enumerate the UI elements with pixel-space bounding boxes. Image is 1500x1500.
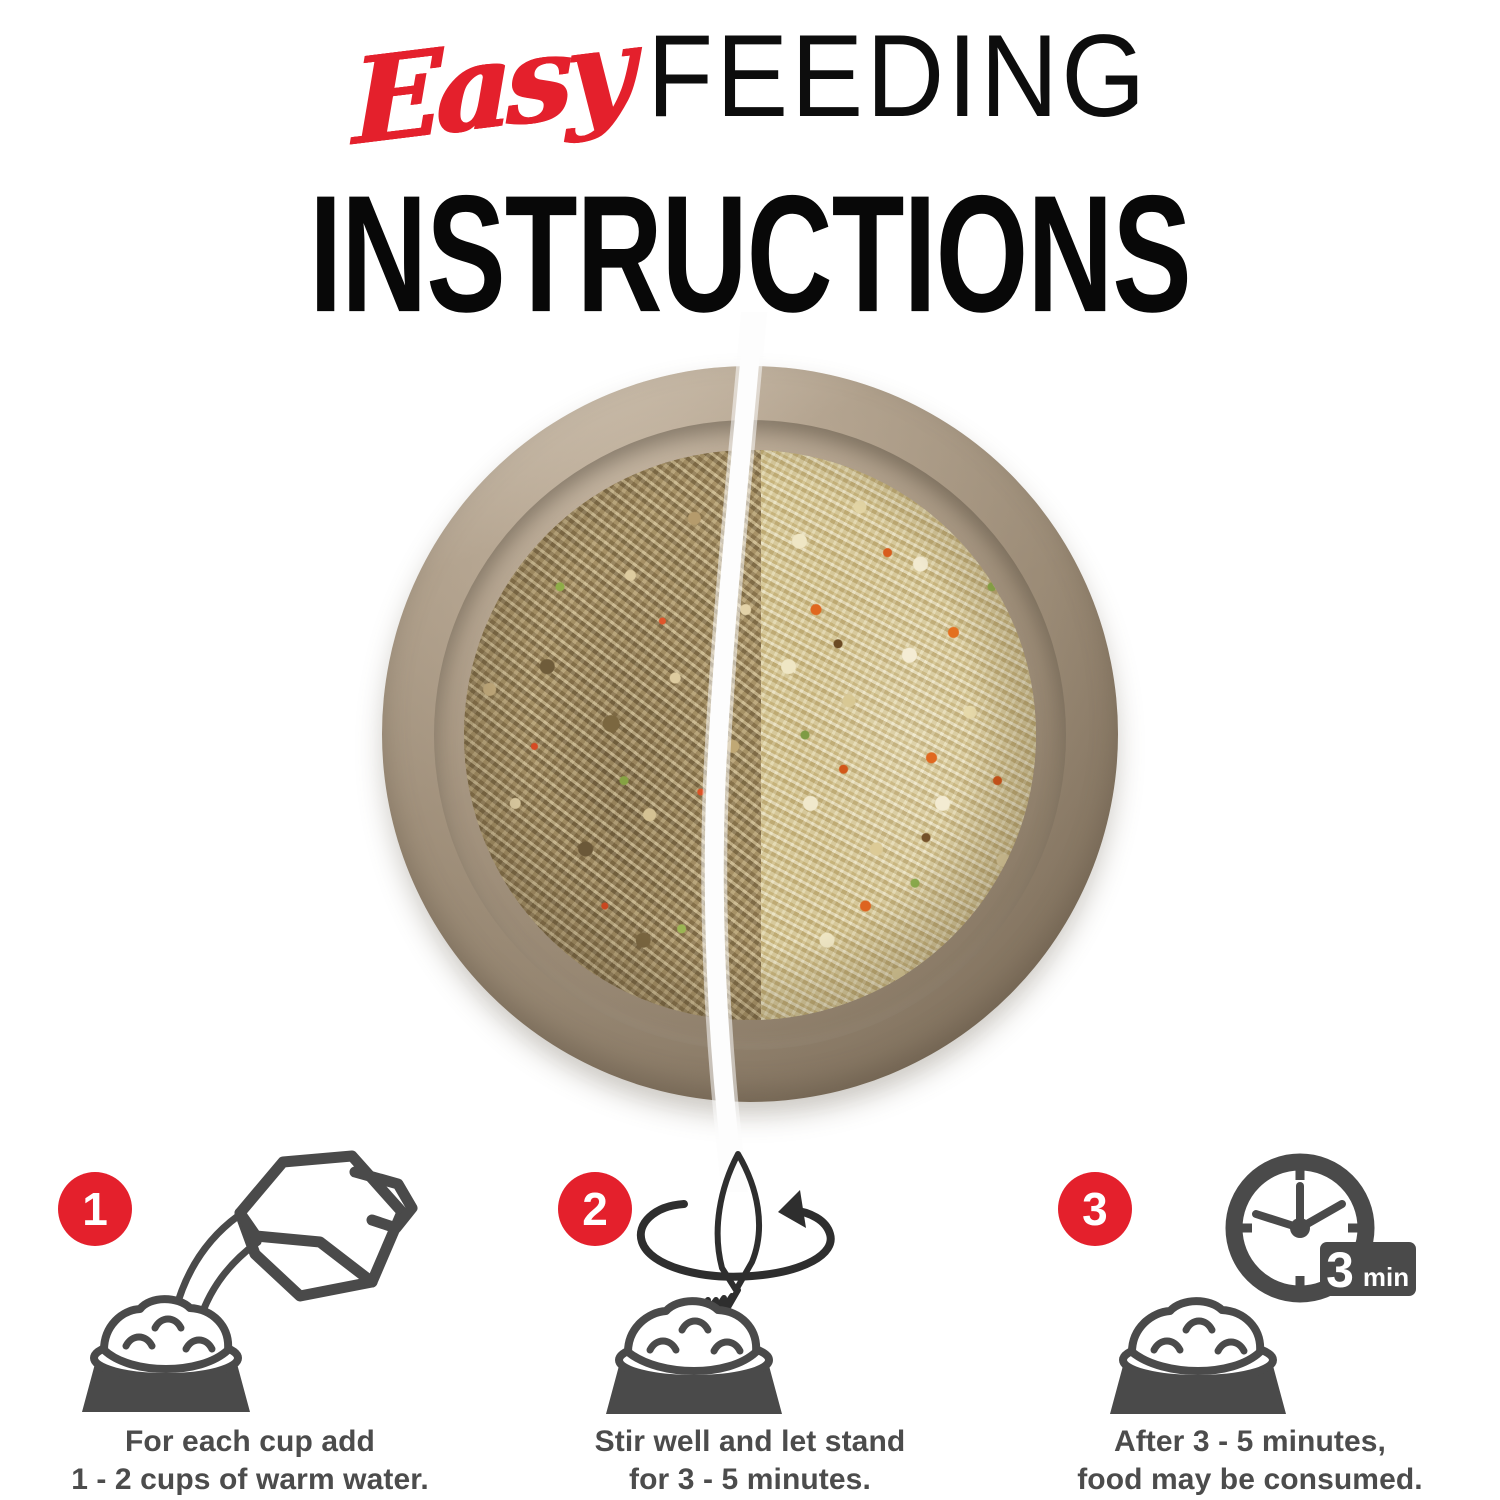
hero-bowl-image — [372, 352, 1128, 1134]
food-bowl-shape — [606, 1301, 782, 1414]
timer-badge-value: 3 — [1326, 1242, 1354, 1298]
fork-stirring-bowl-icon — [500, 1150, 1000, 1420]
page-header: EasyFEEDING INSTRUCTIONS — [0, 0, 1500, 310]
step-1: 1 — [0, 1150, 500, 1500]
step-caption-3: After 3 - 5 minutes, food may be consume… — [1000, 1423, 1500, 1499]
rehydrated-food-half — [761, 450, 1036, 1020]
steps-row: 1 — [0, 1150, 1500, 1500]
food-surface — [464, 450, 1036, 1020]
step-3: 3 3 min — [1000, 1150, 1500, 1500]
step-caption-1: For each cup add 1 - 2 cups of warm wate… — [0, 1423, 500, 1499]
step-2: 2 — [500, 1150, 1000, 1500]
pouring-pitcher-into-bowl-icon — [0, 1150, 500, 1420]
clock-timer-bowl-icon: 3 min — [1000, 1150, 1500, 1420]
dry-food-half — [464, 450, 784, 1020]
food-bowl-shape — [82, 1299, 250, 1412]
feeding-word: FEEDING — [647, 18, 1148, 135]
page-title: INSTRUCTIONS — [53, 172, 1448, 338]
food-bowl-shape — [1110, 1301, 1286, 1414]
headline-line-1: EasyFEEDING — [0, 22, 1500, 145]
easy-script-word: Easy — [351, 10, 628, 162]
step-caption-2: Stir well and let stand for 3 - 5 minute… — [500, 1423, 1000, 1499]
timer-badge-unit: min — [1363, 1262, 1409, 1292]
